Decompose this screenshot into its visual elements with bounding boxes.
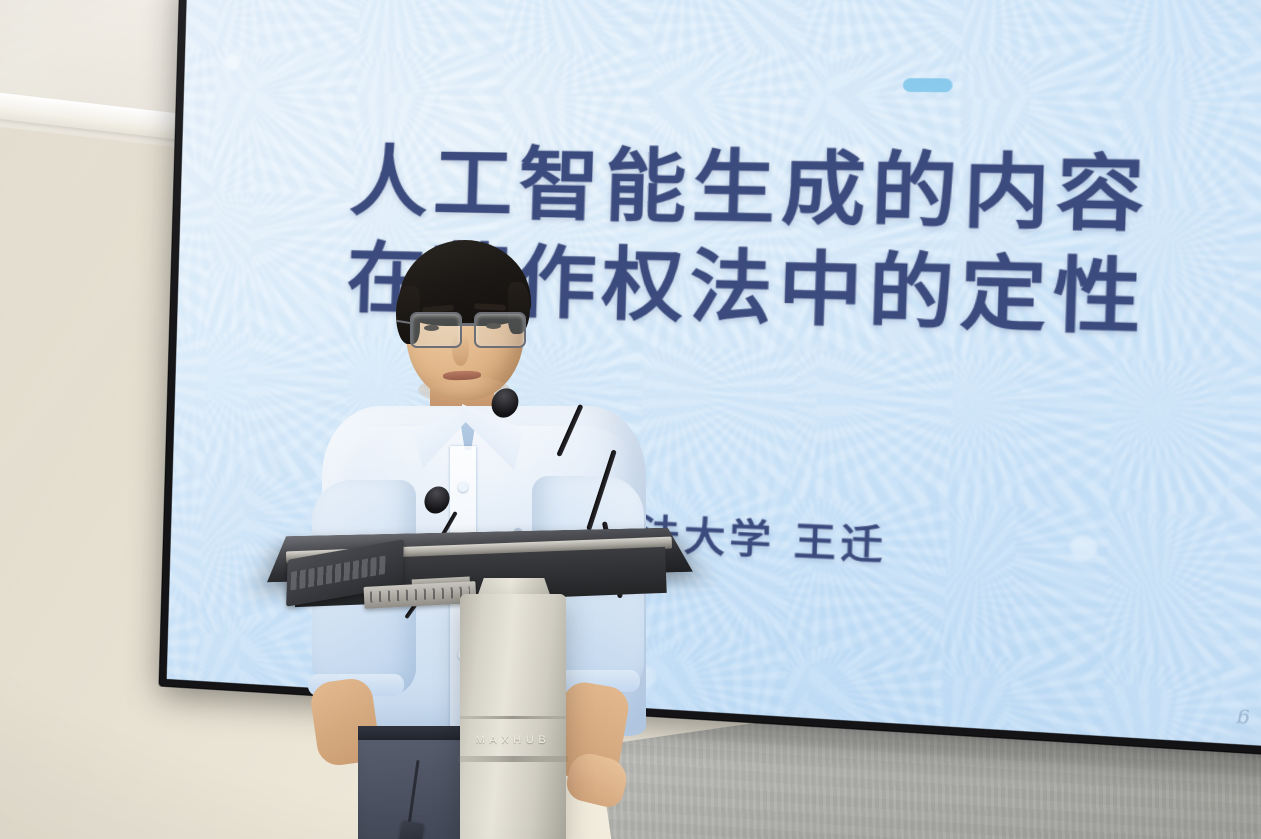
- blue-tag-icon: [903, 78, 953, 92]
- photo-scene: 人工智能生成的内容 在著作权法中的定性 华东政法大学 王迁 ᵷ 𝓁 𝓏: [0, 0, 1261, 839]
- glasses-bridge: [458, 323, 476, 326]
- podium-brand-label: MAXHUB: [460, 734, 566, 746]
- lectern: MAXHUB: [278, 520, 678, 839]
- glasses-icon: [408, 312, 530, 346]
- glasses-lens-right: [474, 312, 526, 348]
- lectern-column-seam: [460, 716, 566, 719]
- slide-corner-icon-group: ᵷ 𝓁 𝓏: [1236, 703, 1261, 730]
- shirt-button: [458, 482, 468, 492]
- glasses-lens-left: [410, 312, 462, 348]
- lectern-column-band: [458, 756, 568, 762]
- page-marker-icon: ᵷ: [1234, 703, 1251, 725]
